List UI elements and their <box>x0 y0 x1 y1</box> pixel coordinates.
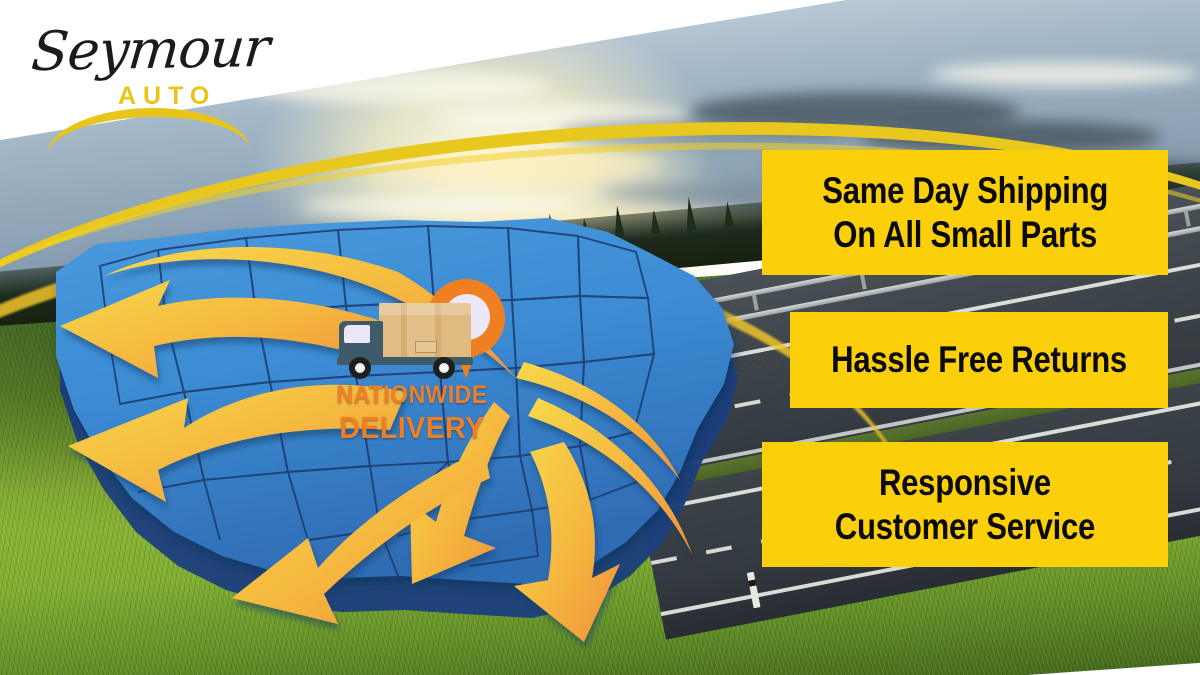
promo-banner-hassle-free-returns: Hassle Free Returns <box>790 312 1168 408</box>
promo-line: Responsive <box>835 461 1095 504</box>
logo-swoosh <box>45 105 250 156</box>
truck-box-label <box>415 341 437 353</box>
truck-window <box>344 325 370 343</box>
brand-subtitle: AUTO <box>118 82 216 111</box>
delivery-truck-icon <box>331 299 471 385</box>
promo-line: Hassle Free Returns <box>831 338 1127 381</box>
brand-name-script: Seymour <box>29 16 272 83</box>
nationwide-line-1: NATIONWIDE <box>334 383 490 408</box>
nationwide-delivery-text: NATIONWIDE DELIVERY <box>327 383 497 443</box>
promo-line: Same Day Shipping <box>822 169 1108 212</box>
truck-wheel <box>349 357 371 379</box>
truck-wheel <box>433 357 455 379</box>
brand-logo[interactable]: Seymour AUTO <box>26 16 256 126</box>
nationwide-line-2: DELIVERY <box>334 412 490 443</box>
promo-banner-same-day-shipping: Same Day Shipping On All Small Parts <box>762 150 1168 275</box>
promo-line: Customer Service <box>835 505 1095 548</box>
nationwide-delivery-badge: NATIONWIDE DELIVERY <box>325 275 505 455</box>
cloud <box>930 62 1200 86</box>
banner-stage: NATIONWIDE DELIVERY Same Day Shipping On… <box>0 0 1200 675</box>
truck-cargo-highlight <box>379 303 471 315</box>
promo-line: On All Small Parts <box>822 213 1108 256</box>
promo-banner-responsive-customer-service: Responsive Customer Service <box>762 442 1168 567</box>
